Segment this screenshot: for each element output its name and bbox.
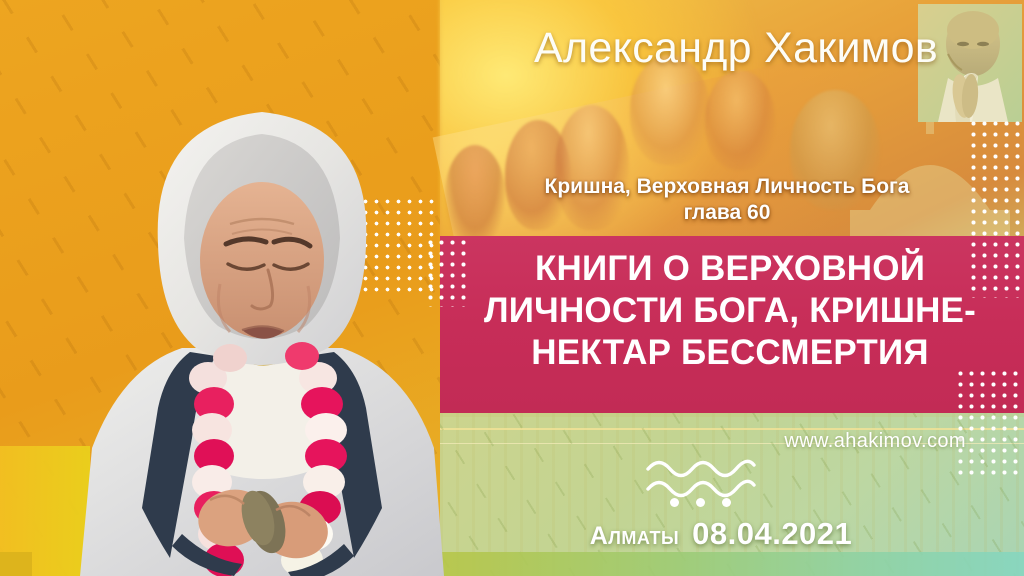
speaker-portrait-photo bbox=[62, 48, 462, 576]
devotee-figure-illustration bbox=[705, 70, 775, 170]
lecture-title: КНИГИ О ВЕРХОВНОЙ ЛИЧНОСТИ БОГА, КРИШНЕ-… bbox=[440, 248, 1024, 374]
event-poster: Александр Хакимов Кришна, Верховная Личн… bbox=[0, 0, 1024, 576]
subtitle-line-1: Кришна, Верховная Личность Бога bbox=[466, 174, 988, 200]
lecture-subtitle: Кришна, Верховная Личность Бога глава 60 bbox=[440, 174, 1024, 225]
three-dots-ornament-icon bbox=[640, 498, 760, 512]
title-line-2: ЛИЧНОСТИ БОГА, КРИШНЕ- bbox=[464, 290, 996, 332]
speaker-name: Александр Хакимов bbox=[460, 26, 1020, 72]
ornament-dot bbox=[696, 498, 705, 507]
website-url[interactable]: www.ahakimov.com bbox=[440, 430, 1024, 453]
title-line-1: КНИГИ О ВЕРХОВНОЙ bbox=[464, 248, 996, 290]
subtitle-line-2: глава 60 bbox=[466, 200, 988, 226]
ornament-dot bbox=[670, 498, 679, 507]
ornament-dot bbox=[722, 498, 731, 507]
bottom-left-gold-strip bbox=[0, 552, 32, 576]
title-line-3: НЕКТАР БЕССМЕРТИЯ bbox=[464, 332, 996, 374]
halftone-dots-pattern-right-bottom bbox=[955, 368, 1024, 478]
event-date: 08.04.2021 bbox=[692, 516, 852, 551]
place-and-date: Алматы08.04.2021 bbox=[440, 516, 1024, 552]
event-city: Алматы bbox=[590, 522, 679, 550]
bottom-gradient-strip bbox=[440, 552, 1024, 576]
